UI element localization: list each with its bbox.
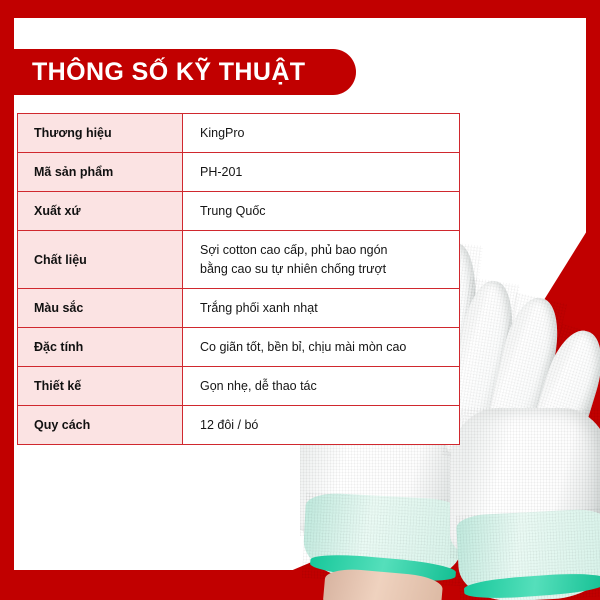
table-row: Chất liệuSợi cotton cao cấp, phủ bao ngó…	[18, 231, 460, 288]
spec-key-cell: Đặc tính	[18, 327, 183, 366]
table-row: Mã sản phẩmPH-201	[18, 153, 460, 192]
spec-value-cell: Trung Quốc	[183, 192, 460, 231]
spec-value-line: Trung Quốc	[200, 202, 453, 220]
spec-value-line: Co giãn tốt, bền bỉ, chịu mài mòn cao	[200, 338, 453, 356]
table-row: Xuất xứTrung Quốc	[18, 192, 460, 231]
spec-key-cell: Màu sắc	[18, 288, 183, 327]
spec-value-line: Gọn nhẹ, dễ thao tác	[200, 377, 453, 395]
specifications-table: Thương hiệuKingProMã sản phẩmPH-201Xuất …	[17, 113, 460, 445]
page-title: THÔNG SỐ KỸ THUẬT	[0, 58, 305, 87]
spec-value-cell: Co giãn tốt, bền bỉ, chịu mài mòn cao	[183, 327, 460, 366]
table-row: Thiết kếGọn nhẹ, dễ thao tác	[18, 366, 460, 405]
spec-value-line: bằng cao su tự nhiên chống trượt	[200, 260, 453, 278]
table-row: Màu sắc Trắng phối xanh nhạt	[18, 288, 460, 327]
spec-key-cell: Mã sản phẩm	[18, 153, 183, 192]
spec-value-cell: KingPro	[183, 114, 460, 153]
spec-value-line: Trắng phối xanh nhạt	[200, 299, 453, 317]
spec-value-line: PH-201	[200, 163, 453, 181]
spec-value-cell: 12 đôi / bó	[183, 406, 460, 445]
spec-key-cell: Thương hiệu	[18, 114, 183, 153]
spec-value-cell: Gọn nhẹ, dễ thao tác	[183, 366, 460, 405]
section-title-banner: THÔNG SỐ KỸ THUẬT	[0, 49, 356, 95]
specifications-table-body: Thương hiệuKingProMã sản phẩmPH-201Xuất …	[18, 114, 460, 445]
table-row: Thương hiệuKingPro	[18, 114, 460, 153]
spec-value-cell: Sợi cotton cao cấp, phủ bao ngónbằng cao…	[183, 231, 460, 288]
spec-value-cell: Trắng phối xanh nhạt	[183, 288, 460, 327]
spec-value-line: 12 đôi / bó	[200, 416, 453, 434]
spec-key-cell: Quy cách	[18, 406, 183, 445]
spec-key-cell: Xuất xứ	[18, 192, 183, 231]
spec-value-line: Sợi cotton cao cấp, phủ bao ngón	[200, 241, 453, 259]
spec-key-cell: Thiết kế	[18, 366, 183, 405]
spec-key-cell: Chất liệu	[18, 231, 183, 288]
spec-value-cell: PH-201	[183, 153, 460, 192]
poster-canvas: THÔNG SỐ KỸ THUẬT Thương hiệuKingProMã s…	[0, 0, 600, 600]
spec-value-line: KingPro	[200, 124, 453, 142]
table-row: Đặc tínhCo giãn tốt, bền bỉ, chịu mài mò…	[18, 327, 460, 366]
table-row: Quy cách12 đôi / bó	[18, 406, 460, 445]
